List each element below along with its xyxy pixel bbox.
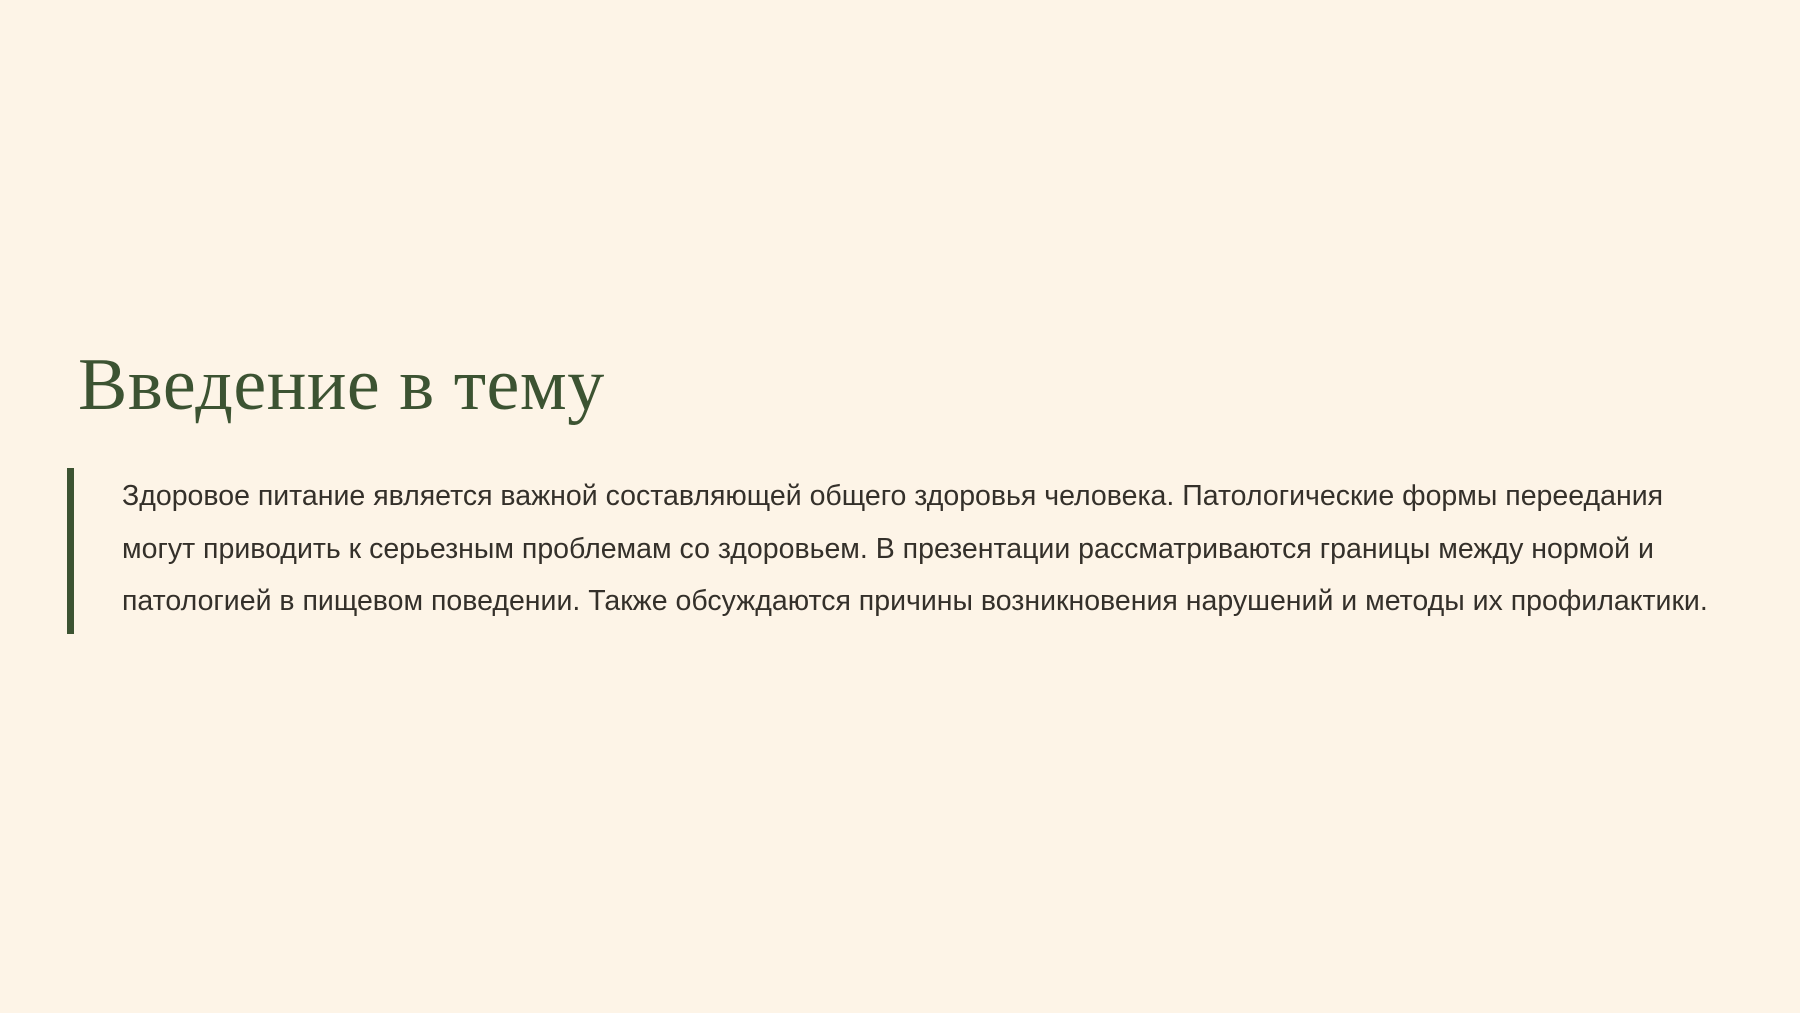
body-paragraph: Здоровое питание является важной составл…	[74, 468, 1727, 634]
page-title: Введение в тему	[78, 348, 605, 422]
presentation-slide: Введение в тему Здоровое питание являетс…	[0, 0, 1800, 1013]
body-callout: Здоровое питание является важной составл…	[67, 468, 1727, 634]
accent-bar	[67, 468, 74, 634]
